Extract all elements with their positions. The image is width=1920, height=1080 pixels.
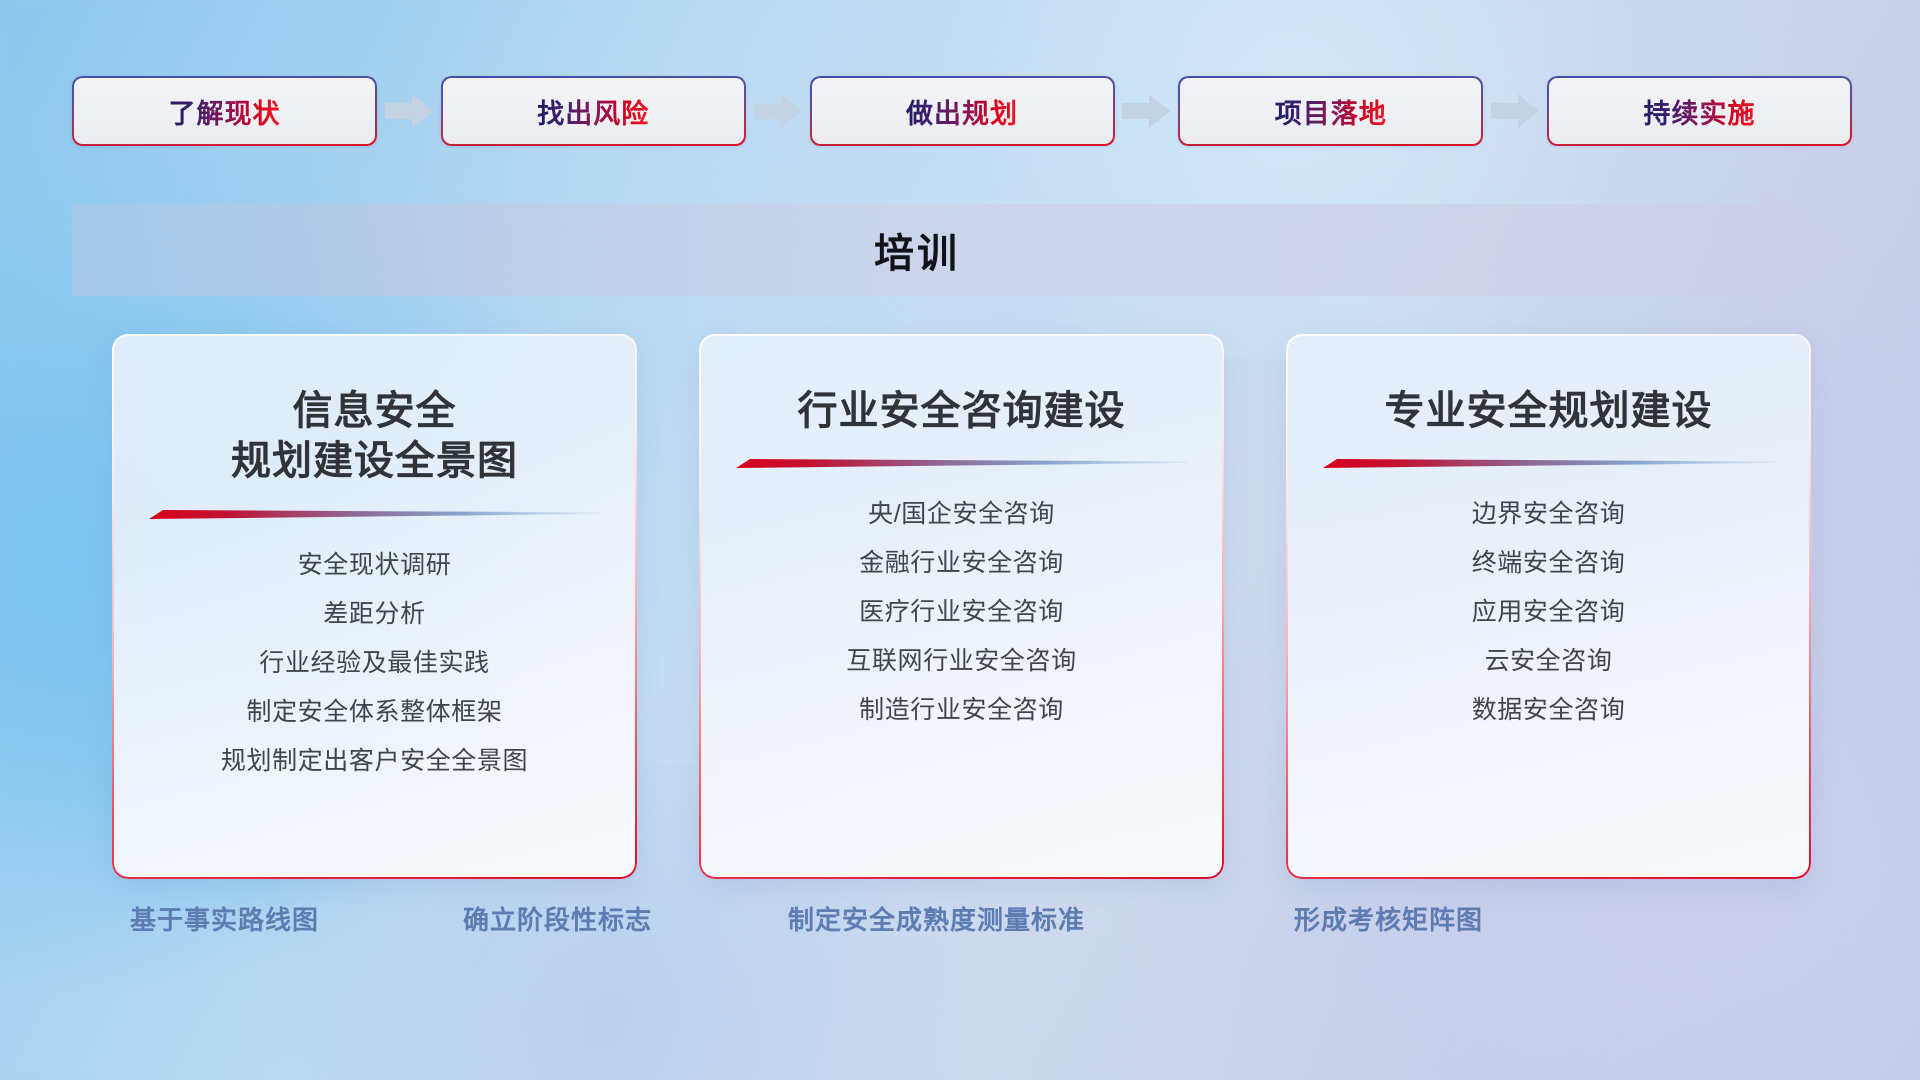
arrow-right-icon — [385, 94, 433, 128]
panorama-cards: 信息安全 规划建设全景图 — [112, 334, 1812, 879]
arrow-right-icon — [1122, 94, 1170, 128]
step-box-4[interactable]: 项目落地 — [1178, 76, 1483, 146]
step-label-3: 做出规划 — [906, 92, 1018, 131]
list-item: 边界安全咨询 — [1320, 490, 1777, 539]
step-arrow-4 — [1483, 76, 1547, 146]
list-item: 数据安全咨询 — [1320, 686, 1777, 735]
bottom-captions: 基于事实路线图 确立阶段性标志 制定安全成熟度测量标准 形成考核矩阵图 — [0, 900, 1920, 960]
arrow-right-icon — [1491, 94, 1539, 128]
card-3[interactable]: 专业安全规划建设 — [1286, 334, 1811, 879]
card-1[interactable]: 信息安全 规划建设全景图 — [112, 334, 637, 879]
card-title-3: 专业安全规划建设 — [1385, 386, 1713, 436]
card-divider-3 — [1323, 458, 1775, 470]
list-item: 金融行业安全咨询 — [733, 539, 1190, 588]
list-item: 制定安全体系整体框架 — [146, 688, 603, 737]
step-label-5: 持续实施 — [1644, 92, 1756, 131]
arrow-right-icon — [754, 94, 802, 128]
step-label-4: 项目落地 — [1275, 92, 1387, 131]
background-bloom-top — [845, 0, 1745, 360]
tapered-divider-icon — [736, 458, 1188, 470]
caption-2: 确立阶段性标志 — [463, 900, 652, 937]
list-item: 医疗行业安全咨询 — [733, 588, 1190, 637]
card-list-1: 安全现状调研 差距分析 行业经验及最佳实践 制定安全体系整体框架 规划制定出客户… — [146, 541, 603, 786]
card-list-2: 央/国企安全咨询 金融行业安全咨询 医疗行业安全咨询 互联网行业安全咨询 制造行… — [733, 490, 1190, 735]
card-title-2: 行业安全咨询建设 — [798, 386, 1126, 436]
step-box-2[interactable]: 找出风险 — [441, 76, 746, 146]
card-divider-1 — [149, 509, 601, 521]
card-wrap-1: 信息安全 规划建设全景图 — [112, 334, 637, 879]
banner-title: 培训 — [72, 204, 1762, 296]
banner-arrow-icon — [1762, 188, 1852, 312]
process-steps: 了解现状 找出风险 做出规划 项目落地 — [72, 76, 1852, 146]
card-divider-2 — [736, 458, 1188, 470]
card-2[interactable]: 行业安全咨询建设 — [699, 334, 1224, 879]
list-item: 终端安全咨询 — [1320, 539, 1777, 588]
card-wrap-3: 专业安全规划建设 — [1286, 334, 1811, 879]
step-box-5[interactable]: 持续实施 — [1547, 76, 1852, 146]
caption-3: 制定安全成熟度测量标准 — [788, 900, 1085, 937]
card-wrap-2: 行业安全咨询建设 — [699, 334, 1224, 879]
caption-4: 形成考核矩阵图 — [1294, 900, 1483, 937]
list-item: 互联网行业安全咨询 — [733, 637, 1190, 686]
step-arrow-3 — [1115, 76, 1179, 146]
step-arrow-2 — [746, 76, 810, 146]
caption-1: 基于事实路线图 — [130, 900, 319, 937]
list-item: 规划制定出客户安全全景图 — [146, 737, 603, 786]
list-item: 应用安全咨询 — [1320, 588, 1777, 637]
list-item: 差距分析 — [146, 590, 603, 639]
training-banner: 培训 — [72, 204, 1852, 296]
step-label-1: 了解现状 — [169, 92, 281, 131]
tapered-divider-icon — [1323, 458, 1775, 470]
slide-stage: 了解现状 找出风险 做出规划 项目落地 — [0, 0, 1920, 1080]
card-title-1: 信息安全 规划建设全景图 — [231, 386, 518, 487]
list-item: 央/国企安全咨询 — [733, 490, 1190, 539]
list-item: 制造行业安全咨询 — [733, 686, 1190, 735]
step-box-3[interactable]: 做出规划 — [810, 76, 1115, 146]
card-list-3: 边界安全咨询 终端安全咨询 应用安全咨询 云安全咨询 数据安全咨询 — [1320, 490, 1777, 735]
tapered-divider-icon — [149, 509, 601, 521]
step-arrow-1 — [377, 76, 441, 146]
list-item: 安全现状调研 — [146, 541, 603, 590]
step-label-2: 找出风险 — [537, 92, 649, 131]
list-item: 行业经验及最佳实践 — [146, 639, 603, 688]
list-item: 云安全咨询 — [1320, 637, 1777, 686]
step-box-1[interactable]: 了解现状 — [72, 76, 377, 146]
